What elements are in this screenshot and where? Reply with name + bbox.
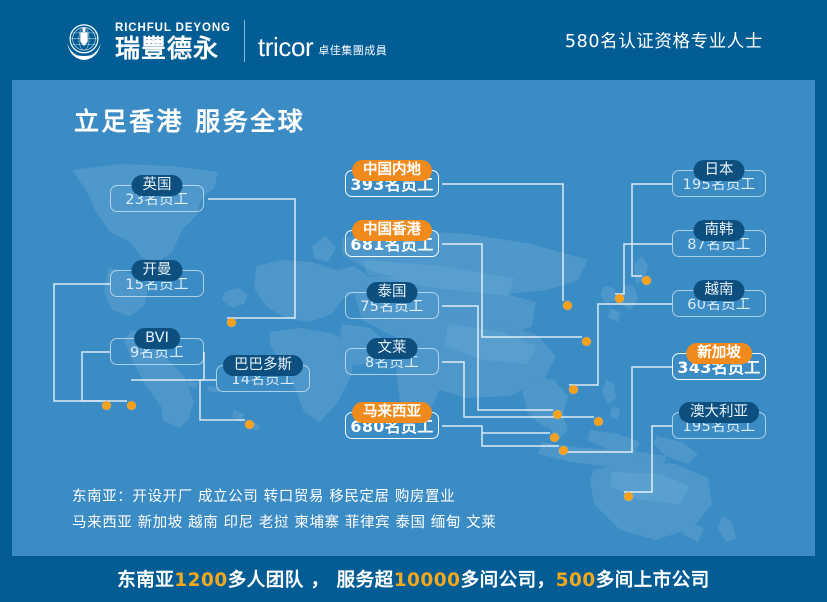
page-footer: 东南亚1200多人团队 ， 服务超10000多间公司，500多间上市公司: [0, 556, 827, 602]
node-thailand[interactable]: 泰国 75名员工: [345, 282, 439, 319]
node-brunei[interactable]: 文莱 8名员工: [345, 338, 439, 375]
node-hong-kong[interactable]: 中国香港 681名员工: [345, 220, 439, 257]
node-singapore[interactable]: 新加坡 343名员工: [672, 343, 766, 380]
node-uk[interactable]: 英国 23名员工: [110, 175, 204, 212]
footer-summary-text: 东南亚1200多人团队 ， 服务超10000多间公司，500多间上市公司: [117, 566, 709, 592]
panel-notes: 东南亚：开设开厂 成立公司 转口贸易 移民定居 购房置业 马来西亚 新加坡 越南…: [72, 484, 752, 536]
node-south-korea[interactable]: 南韩 87名员工: [672, 220, 766, 257]
node-name: 英国: [132, 175, 183, 196]
partner-logo-text: tricor: [258, 34, 313, 60]
node-name: 南韩: [694, 220, 745, 241]
node-box: 文莱 8名员工: [345, 348, 439, 375]
vertical-divider-icon: [244, 20, 245, 62]
node-name: 中国内地: [352, 160, 432, 181]
map-dot-barbados[interactable]: [245, 420, 254, 429]
map-dot-hong-kong[interactable]: [582, 337, 591, 346]
node-name: 中国香港: [352, 220, 432, 241]
partner-logo-subtext: 卓佳集團成員: [318, 44, 387, 60]
footer-seg-1: 东南亚: [117, 570, 174, 591]
node-name: 开曼: [132, 260, 183, 281]
page-title: 立足香港 服务全球: [74, 102, 305, 138]
node-name: 澳大利亚: [679, 402, 759, 423]
logo-chinese-name: 瑞豐德永: [115, 35, 231, 63]
node-cayman[interactable]: 开曼 15名员工: [110, 260, 204, 297]
footer-number-3: 500: [556, 570, 596, 591]
node-japan[interactable]: 日本 195名员工: [672, 160, 766, 197]
map-dot-uk[interactable]: [227, 318, 236, 327]
map-dot-south-korea[interactable]: [615, 294, 624, 303]
node-bvi[interactable]: BVI 9名员工: [110, 328, 204, 365]
node-box: 越南 60名员工: [672, 290, 766, 317]
map-dot-bvi[interactable]: [127, 401, 136, 410]
node-box: 中国香港 681名员工: [345, 230, 439, 257]
footer-number-1: 1200: [174, 570, 228, 591]
footer-seg-2: 多人团队 ， 服务超: [228, 570, 394, 591]
node-name: BVI: [134, 328, 180, 349]
footer-number-2: 10000: [394, 570, 461, 591]
node-australia[interactable]: 澳大利亚 195名员工: [672, 402, 766, 439]
node-vietnam[interactable]: 越南 60名员工: [672, 280, 766, 317]
node-box: 澳大利亚 195名员工: [672, 412, 766, 439]
header-stat-text: 580名认证资格专业人士: [565, 0, 763, 80]
main-panel: 立足香港 服务全球 英国 23名员工 开曼 15名员工 BVI 9名员工 巴巴多…: [12, 80, 815, 556]
node-name: 日本: [694, 160, 745, 181]
node-box: 泰国 75名员工: [345, 292, 439, 319]
map-dot-cayman[interactable]: [102, 401, 111, 410]
node-box: 日本 195名员工: [672, 170, 766, 197]
node-name: 新加坡: [686, 343, 752, 364]
node-name: 巴巴多斯: [223, 355, 303, 376]
panel-note-line-2: 马来西亚 新加坡 越南 印尼 老挝 柬埔寨 菲律宾 泰国 缅甸 文莱: [72, 510, 752, 536]
node-box: BVI 9名员工: [110, 338, 204, 365]
node-name: 马来西亚: [352, 402, 432, 423]
node-box: 南韩 87名员工: [672, 230, 766, 257]
node-box: 开曼 15名员工: [110, 270, 204, 297]
map-dot-vietnam[interactable]: [569, 385, 578, 394]
panel-note-line-1: 东南亚：开设开厂 成立公司 转口贸易 移民定居 购房置业: [72, 484, 752, 510]
footer-seg-3: 多间公司，: [461, 570, 556, 591]
node-box: 英国 23名员工: [110, 185, 204, 212]
node-box: 中国内地 393名员工: [345, 170, 439, 197]
map-dot-japan[interactable]: [642, 276, 651, 285]
brand-logo[interactable]: RICHFUL DEYONG 瑞豐德永 tricor 卓佳集團成員: [62, 19, 387, 63]
map-dot-thailand[interactable]: [553, 410, 562, 419]
map-dot-mainland-china[interactable]: [563, 301, 572, 310]
page-header: RICHFUL DEYONG 瑞豐德永 tricor 卓佳集團成員 580名认证…: [0, 0, 827, 80]
node-box: 新加坡 343名员工: [672, 353, 766, 380]
node-box: 马来西亚 680名员工: [345, 412, 439, 439]
node-malaysia[interactable]: 马来西亚 680名员工: [345, 402, 439, 439]
node-name: 泰国: [367, 282, 418, 303]
map-dot-brunei[interactable]: [594, 417, 603, 426]
logo-english-name: RICHFUL DEYONG: [115, 22, 231, 35]
map-dot-malaysia[interactable]: [550, 433, 559, 442]
node-name: 文莱: [367, 338, 418, 359]
footer-seg-4: 多间上市公司: [596, 570, 710, 591]
map-dot-singapore[interactable]: [559, 446, 568, 455]
node-name: 越南: [694, 280, 745, 301]
shield-crest-icon: [62, 19, 106, 63]
node-mainland-china[interactable]: 中国内地 393名员工: [345, 160, 439, 197]
node-box: 巴巴多斯 14名员工: [216, 365, 310, 392]
node-barbados[interactable]: 巴巴多斯 14名员工: [216, 355, 310, 392]
